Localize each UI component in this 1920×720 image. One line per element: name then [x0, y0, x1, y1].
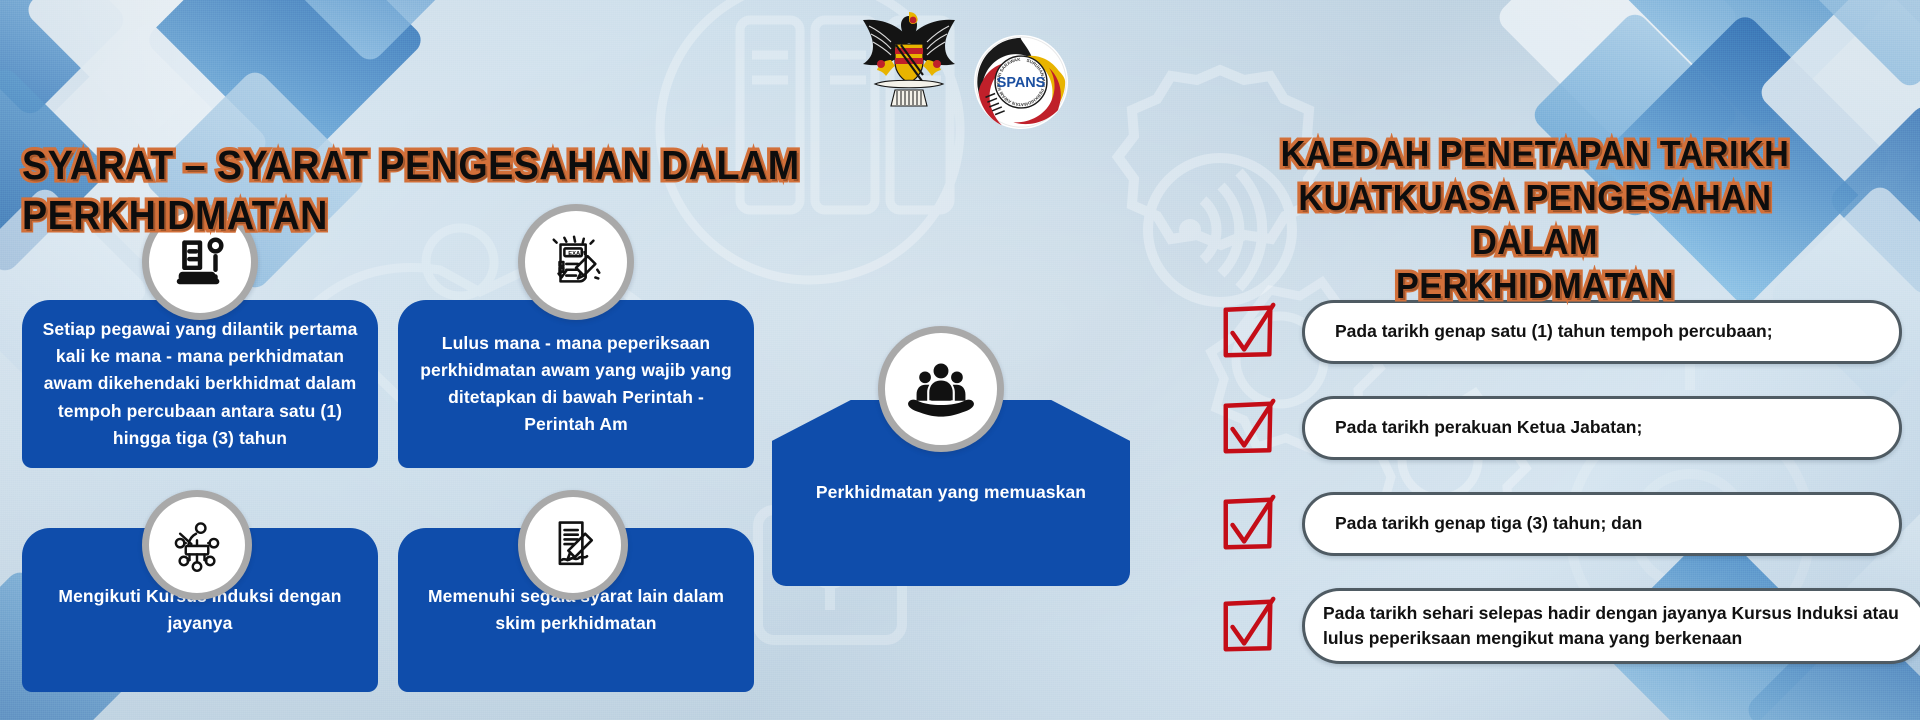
checklist-item-2[interactable]: Pada tarikh perakuan Ketua Jabatan; [1302, 396, 1902, 460]
checklist-row-4: Pada tarikh sehari selepas hadir dengan … [1218, 588, 1920, 664]
card-tempoh-percubaan: Setiap pegawai yang dilantik pertama kal… [22, 300, 378, 468]
card-perkhidmatan-memuaskan-text: Perkhidmatan yang memuaskan [816, 479, 1086, 506]
spans-acronym: SPANS [997, 75, 1046, 91]
checklist-row-1: Pada tarikh genap satu (1) tahun tempoh … [1218, 300, 1908, 364]
medal-signed-document [518, 490, 628, 600]
spans-logo-icon: SURUHANJAYA PERKHIDMATAN AWAM NEGERI SAR… [973, 34, 1069, 130]
decor-diamond [1619, 0, 1902, 131]
red-check-box-icon [1218, 301, 1280, 363]
checklist-item-1[interactable]: Pada tarikh genap satu (1) tahun tempoh … [1302, 300, 1902, 364]
checklist-item-2-text: Pada tarikh perakuan Ketua Jabatan; [1335, 415, 1642, 440]
card-tempoh-percubaan-text: Setiap pegawai yang dilantik pertama kal… [36, 316, 364, 452]
checklist-row-2: Pada tarikh perakuan Ketua Jabatan; [1218, 396, 1908, 460]
decor-diamond [1804, 0, 1920, 91]
card-lulus-peperiksaan: Lulus mana - mana peperiksaan perkhidmat… [398, 300, 754, 468]
left-title-text: SYARAT – SYARAT PENGESAHAN DALAM PERKHID… [22, 140, 970, 240]
emblem-row: SURUHANJAYA PERKHIDMATAN AWAM NEGERI SAR… [855, 8, 1069, 130]
training-presentation-icon [167, 515, 227, 575]
red-check-box-icon [1218, 397, 1280, 459]
infographic-canvas: SURUHANJAYA PERKHIDMATAN AWAM NEGERI SAR… [0, 0, 1920, 720]
right-title-line-1: KAEDAH PENETAPAN TARIKH [1231, 132, 1839, 176]
decor-diamond [0, 0, 129, 119]
checklist-item-3-text: Pada tarikh genap tiga (3) tahun; dan [1335, 511, 1642, 536]
right-title-line-3: PERKHIDMATAN [1231, 264, 1839, 308]
right-panel-title: KAEDAH PENETAPAN TARIKH KUATKUASA PENGES… [1215, 132, 1855, 308]
signed-document-icon [543, 515, 603, 575]
medal-people-in-hands [878, 326, 1004, 452]
checklist-row-3: Pada tarikh genap tiga (3) tahun; dan [1218, 492, 1908, 556]
right-title-line-2: KUATKUASA PENGESAHAN DALAM [1231, 176, 1839, 264]
checklist-item-1-text: Pada tarikh genap satu (1) tahun tempoh … [1335, 319, 1773, 344]
left-panel-title: SYARAT – SYARAT PENGESAHAN DALAM PERKHID… [22, 140, 1052, 240]
checklist-item-3[interactable]: Pada tarikh genap tiga (3) tahun; dan [1302, 492, 1902, 556]
exam-paper-icon: EXAM [545, 231, 607, 293]
medal-training-presentation [142, 490, 252, 600]
id-badge-icon [169, 231, 231, 293]
decor-diamond [23, 0, 278, 137]
card-lulus-peperiksaan-text: Lulus mana - mana peperiksaan perkhidmat… [412, 330, 740, 439]
decor-diamond [250, 0, 490, 65]
checklist-item-4-text: Pada tarikh sehari selepas hadir dengan … [1323, 601, 1907, 652]
svg-text:EXAM: EXAM [568, 251, 585, 257]
sarawak-coat-of-arms-icon [855, 8, 963, 112]
red-check-box-icon [1218, 493, 1280, 555]
decor-diamond [1494, 0, 1741, 141]
checklist-item-4[interactable]: Pada tarikh sehari selepas hadir dengan … [1302, 588, 1920, 664]
red-check-box-icon [1218, 595, 1280, 657]
people-in-hands-icon [907, 355, 975, 423]
